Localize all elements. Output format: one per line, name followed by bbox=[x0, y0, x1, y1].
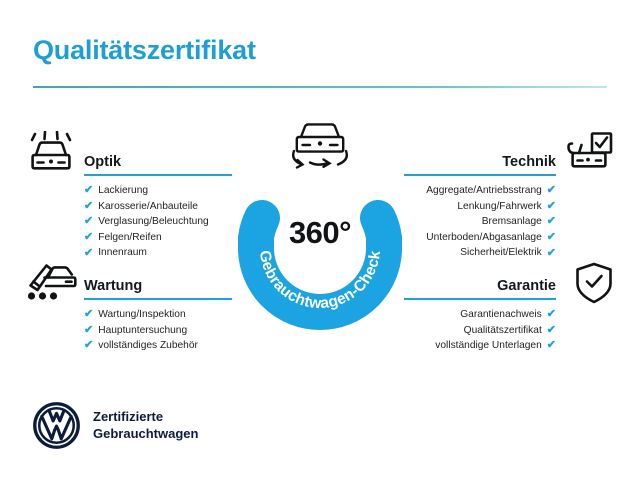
check-icon: ✔ bbox=[84, 325, 93, 336]
list-item-label: Wartung/Inspektion bbox=[98, 307, 185, 323]
list-item-label: Aggregate/Antriebsstrang bbox=[426, 183, 542, 199]
list-item: ✔ Wartung/Inspektion bbox=[84, 307, 232, 323]
page-title: Qualitätszertifikat bbox=[33, 35, 256, 66]
section-wartung-header: Wartung bbox=[84, 270, 232, 296]
section-optik: Optik ✔ Lackierung ✔ Karosserie/Anbautei… bbox=[84, 146, 232, 277]
car-front-shine-icon bbox=[26, 131, 76, 178]
list-item-label: Verglasung/Beleuchtung bbox=[98, 214, 208, 230]
list-item: ✔ vollständiges Zubehör bbox=[84, 338, 232, 354]
section-garantie: Garantie Garantienachweis ✔ Qualitätszer… bbox=[404, 270, 556, 370]
check-icon: ✔ bbox=[84, 340, 93, 351]
check-icon: ✔ bbox=[84, 201, 93, 212]
list-item-label: Lackierung bbox=[98, 183, 148, 199]
footer-line-1: Zertifizierte bbox=[93, 409, 198, 426]
list-item: Lenkung/Fahrwerk ✔ bbox=[404, 199, 556, 215]
list-item: ✔ Karosserie/Anbauteile bbox=[84, 199, 232, 215]
section-technik-title: Technik bbox=[502, 154, 556, 170]
section-technik: Technik Aggregate/Antriebsstrang ✔ Lenku… bbox=[404, 146, 556, 277]
section-technik-header: Technik bbox=[404, 146, 556, 172]
section-wartung-divider bbox=[84, 298, 232, 300]
list-item-label: Bremsanlage bbox=[482, 214, 542, 230]
section-wartung-list: ✔ Wartung/Inspektion ✔ Hauptuntersuchung… bbox=[84, 307, 232, 354]
list-item-label: vollständiges Zubehör bbox=[98, 338, 198, 354]
list-item-label: Karosserie/Anbauteile bbox=[98, 199, 198, 215]
check-icon: ✔ bbox=[84, 216, 93, 227]
footer-line-2: Gebrauchtwagen bbox=[93, 426, 198, 443]
list-item: vollständige Unterlagen ✔ bbox=[404, 338, 556, 354]
check-icon: ✔ bbox=[547, 248, 556, 259]
list-item: Garantienachweis ✔ bbox=[404, 307, 556, 323]
check-icon: ✔ bbox=[84, 185, 93, 196]
qualitaetszertifikat-page: Qualitätszertifikat Optik bbox=[0, 0, 640, 480]
check-icon: ✔ bbox=[547, 309, 556, 320]
check-icon: ✔ bbox=[84, 309, 93, 320]
list-item: ✔ Felgen/Reifen bbox=[84, 230, 232, 246]
list-item-label: vollständige Unterlagen bbox=[435, 338, 541, 354]
section-technik-list: Aggregate/Antriebsstrang ✔ Lenkung/Fahrw… bbox=[404, 183, 556, 261]
section-wartung: Wartung ✔ Wartung/Inspektion ✔ Hauptunte… bbox=[84, 270, 232, 370]
check-icon: ✔ bbox=[547, 340, 556, 351]
list-item-label: Qualitätszertifikat bbox=[464, 323, 542, 339]
shield-check-icon bbox=[573, 261, 615, 310]
list-item: Qualitätszertifikat ✔ bbox=[404, 323, 556, 339]
section-optik-title: Optik bbox=[84, 154, 121, 170]
list-item: ✔ Hauptuntersuchung bbox=[84, 323, 232, 339]
footer-text: Zertifizierte Gebrauchtwagen bbox=[93, 409, 198, 442]
list-item: ✔ Verglasung/Beleuchtung bbox=[84, 214, 232, 230]
section-optik-header: Optik bbox=[84, 146, 232, 172]
section-optik-divider bbox=[84, 174, 232, 176]
car-front-rotate-icon bbox=[280, 118, 360, 174]
360-badge: Gebrauchtwagen-Check 360° bbox=[232, 160, 408, 336]
footer-brand: Zertifizierte Gebrauchtwagen bbox=[33, 402, 198, 449]
section-garantie-divider bbox=[404, 298, 556, 300]
wrench-car-service-icon bbox=[24, 259, 78, 308]
check-icon: ✔ bbox=[547, 232, 556, 243]
list-item-label: Felgen/Reifen bbox=[98, 230, 161, 246]
vw-logo-icon bbox=[33, 402, 80, 449]
list-item-label: Innenraum bbox=[98, 245, 147, 261]
title-divider bbox=[33, 86, 607, 88]
list-item: Aggregate/Antriebsstrang ✔ bbox=[404, 183, 556, 199]
check-icon: ✔ bbox=[84, 232, 93, 243]
list-item-label: Unterboden/Abgasanlage bbox=[426, 230, 542, 246]
section-garantie-header: Garantie bbox=[404, 270, 556, 296]
check-icon: ✔ bbox=[547, 325, 556, 336]
list-item-label: Garantienachweis bbox=[460, 307, 542, 323]
list-item-label: Hauptuntersuchung bbox=[98, 323, 187, 339]
section-garantie-title: Garantie bbox=[497, 278, 556, 294]
list-item: Bremsanlage ✔ bbox=[404, 214, 556, 230]
list-item: ✔ Lackierung bbox=[84, 183, 232, 199]
list-item: Unterboden/Abgasanlage ✔ bbox=[404, 230, 556, 246]
section-garantie-list: Garantienachweis ✔ Qualitätszertifikat ✔… bbox=[404, 307, 556, 354]
check-icon: ✔ bbox=[547, 216, 556, 227]
section-wartung-title: Wartung bbox=[84, 278, 142, 294]
section-technik-divider bbox=[404, 174, 556, 176]
section-optik-list: ✔ Lackierung ✔ Karosserie/Anbauteile ✔ V… bbox=[84, 183, 232, 261]
check-icon: ✔ bbox=[547, 201, 556, 212]
badge-center-label: 360° bbox=[232, 215, 408, 251]
list-item-label: Lenkung/Fahrwerk bbox=[457, 199, 541, 215]
check-icon: ✔ bbox=[547, 185, 556, 196]
list-item-label: Sicherheit/Elektrik bbox=[460, 245, 542, 261]
list-item: ✔ Innenraum bbox=[84, 245, 232, 261]
car-front-checkbox-icon bbox=[566, 131, 614, 178]
check-icon: ✔ bbox=[84, 248, 93, 259]
list-item: Sicherheit/Elektrik ✔ bbox=[404, 245, 556, 261]
